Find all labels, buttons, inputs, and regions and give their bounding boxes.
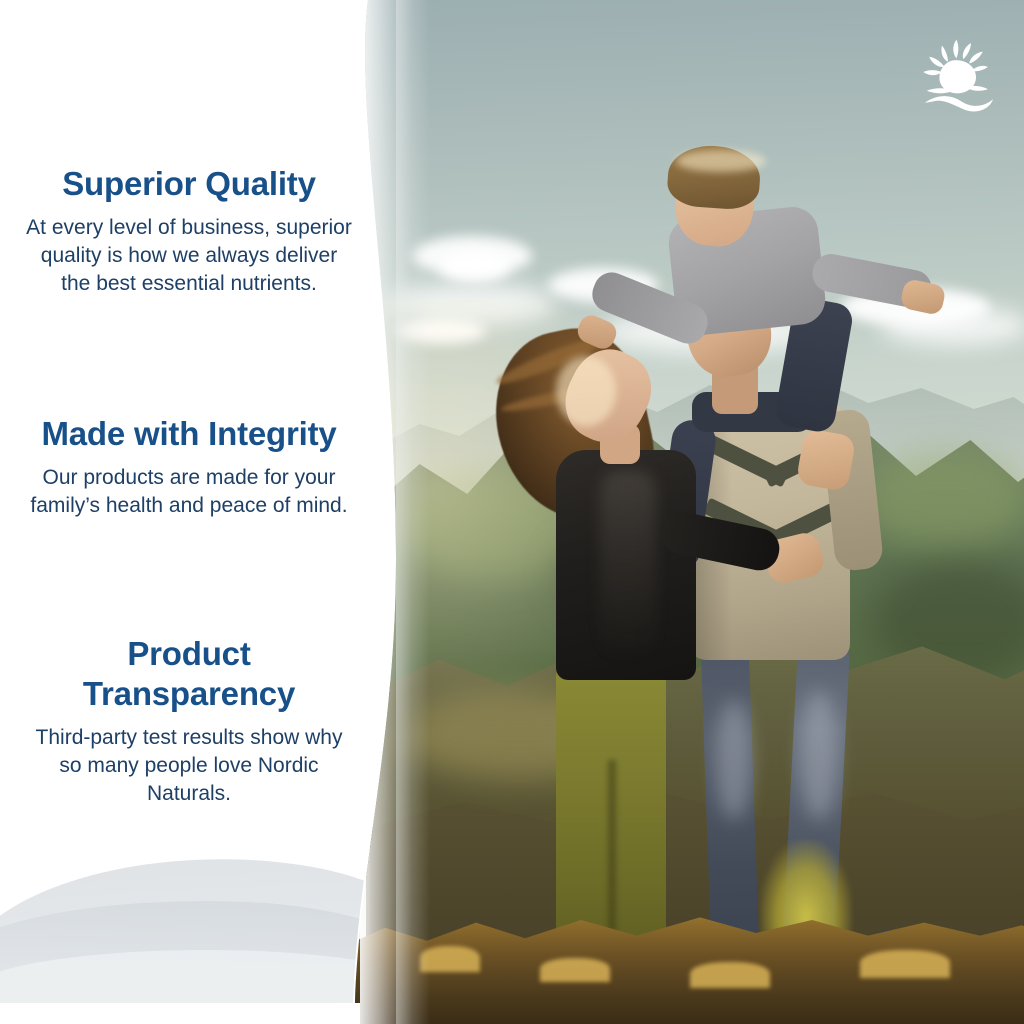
feature-heading: Made with Integrity	[24, 414, 354, 454]
feature-block-product-transparency: Product Transparency Third-party test re…	[24, 634, 354, 808]
jacket-sheen	[600, 470, 656, 660]
photo-edge-overlay-inner	[396, 0, 430, 1024]
denim-highlight	[716, 700, 752, 820]
feature-block-superior-quality: Superior Quality At every level of busin…	[24, 164, 354, 298]
feature-list: Superior Quality At every level of busin…	[0, 0, 400, 1024]
promo-graphic: Superior Quality At every level of busin…	[0, 0, 1024, 1024]
feature-body: Third-party test results show why so man…	[24, 724, 354, 808]
cloud	[440, 252, 510, 282]
grass-tuft	[690, 962, 770, 988]
grass-tuft	[540, 958, 610, 982]
slope-highlight	[860, 450, 1024, 550]
rim-light	[556, 356, 616, 426]
rim-light	[676, 150, 766, 172]
sun-waves-logo-icon	[916, 38, 1002, 118]
feature-body: Our products are made for your family’s …	[24, 464, 354, 520]
feature-heading: Superior Quality	[24, 164, 354, 204]
feature-body: At every level of business, superior qua…	[24, 214, 354, 298]
feature-block-made-with-integrity: Made with Integrity Our products are mad…	[24, 414, 354, 520]
cloud	[880, 306, 1024, 346]
feature-heading: Product Transparency	[24, 634, 354, 714]
denim-highlight	[800, 690, 838, 820]
grass-tuft	[860, 950, 950, 978]
